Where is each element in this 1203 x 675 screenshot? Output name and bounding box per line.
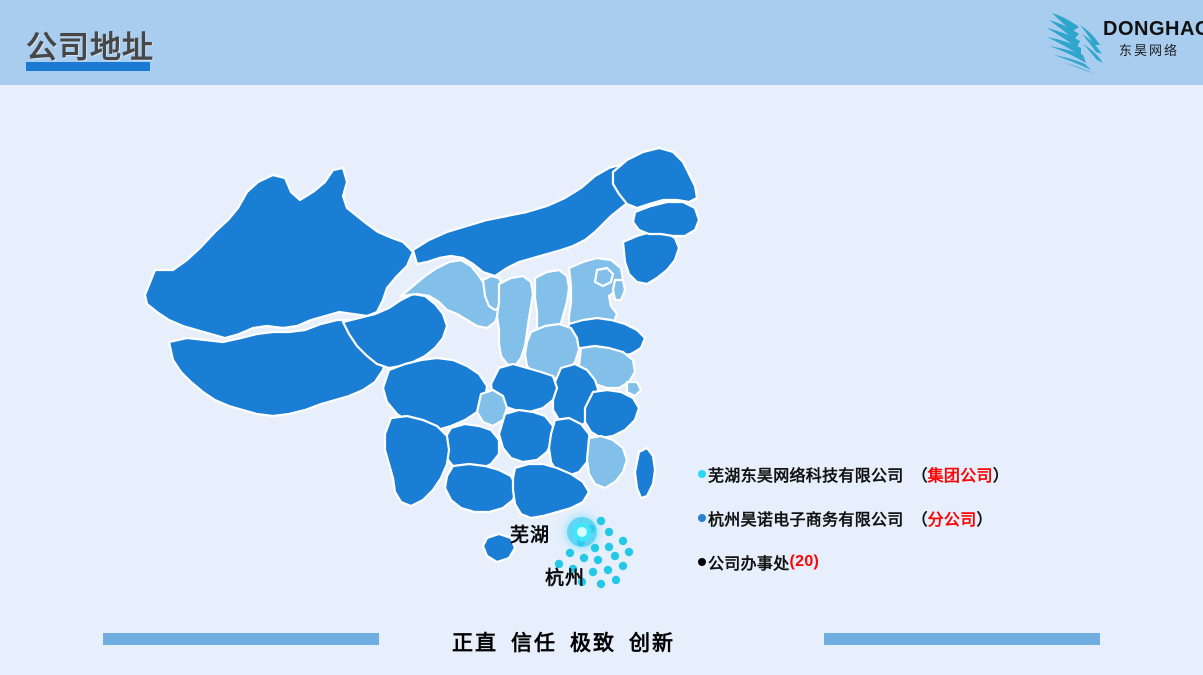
company-logo: DONGHAO 东昊网络 xyxy=(1018,5,1193,77)
legend-dot-black xyxy=(698,558,706,566)
slogan-word-2: 信任 xyxy=(511,632,557,655)
legend-tag-group-company: 集团公司 xyxy=(928,462,993,486)
legend-item-group-company[interactable]: 芜湖东昊网络科技有限公司 （ 集团公司 ） xyxy=(698,462,1098,486)
province-guizhou xyxy=(443,424,499,470)
province-beijing xyxy=(595,268,613,286)
legend-label-offices: 公司办事处 xyxy=(708,550,790,574)
province-fujian xyxy=(587,436,627,488)
province-taiwan xyxy=(635,448,655,498)
page-title: 公司地址 xyxy=(26,22,154,67)
slogan-word-1: 正直 xyxy=(452,632,498,655)
legend-item-branch-company[interactable]: 杭州昊诺电子商务有限公司 （ 分公司 ） xyxy=(698,506,1098,530)
map-label-wuhu: 芜湖 xyxy=(510,520,550,547)
province-xinjiang xyxy=(145,168,413,338)
footer-bar-right xyxy=(824,633,1100,645)
china-map-svg xyxy=(95,120,715,620)
legend-item-offices[interactable]: 公司办事处 (20) xyxy=(698,550,1098,574)
province-zhejiang xyxy=(585,390,639,438)
map-legend: 芜湖东昊网络科技有限公司 （ 集团公司 ） 杭州昊诺电子商务有限公司 （ 分公司… xyxy=(698,462,1098,574)
title-underline xyxy=(26,62,150,71)
province-shanghai xyxy=(627,382,641,396)
legend-paren-open: （ xyxy=(912,506,928,530)
logo-name-en: DONGHAO xyxy=(1103,19,1195,39)
legend-paren-close: ） xyxy=(977,506,993,530)
province-yunnan xyxy=(385,416,449,506)
logo-wordmark: DONGHAO 东昊网络 xyxy=(1103,19,1195,57)
china-map[interactable]: 芜湖 杭州 xyxy=(95,120,715,620)
province-liaoning xyxy=(623,232,679,284)
slogan-word-4: 创新 xyxy=(629,632,675,655)
province-heilongjiang xyxy=(613,148,697,208)
footer-slogan: 正直信任极致创新 xyxy=(452,627,752,657)
province-guangxi xyxy=(445,464,517,512)
legend-label-branch-company: 杭州昊诺电子商务有限公司 xyxy=(708,506,904,530)
logo-name-cn: 东昊网络 xyxy=(1103,44,1195,57)
legend-dot-blue xyxy=(698,514,706,522)
donghao-fan-logo-icon xyxy=(1038,7,1108,75)
map-label-hangzhou: 杭州 xyxy=(545,563,585,590)
headquarters-marker-wuhu xyxy=(567,517,597,547)
legend-dot-cyan xyxy=(698,470,706,478)
province-hunan xyxy=(499,410,553,462)
legend-tag-branch-company: 分公司 xyxy=(928,506,977,530)
legend-paren-open: （ xyxy=(912,462,928,486)
page-header: 公司地址 DONGHAO 东昊网络 xyxy=(0,0,1203,85)
legend-paren-close: ） xyxy=(993,462,1009,486)
legend-label-group-company: 芜湖东昊网络科技有限公司 xyxy=(708,462,904,486)
province-tianjin xyxy=(613,280,625,300)
slogan-word-3: 极致 xyxy=(570,632,616,655)
footer-bar-left xyxy=(103,633,379,645)
legend-tag-offices-count: (20) xyxy=(790,553,820,571)
